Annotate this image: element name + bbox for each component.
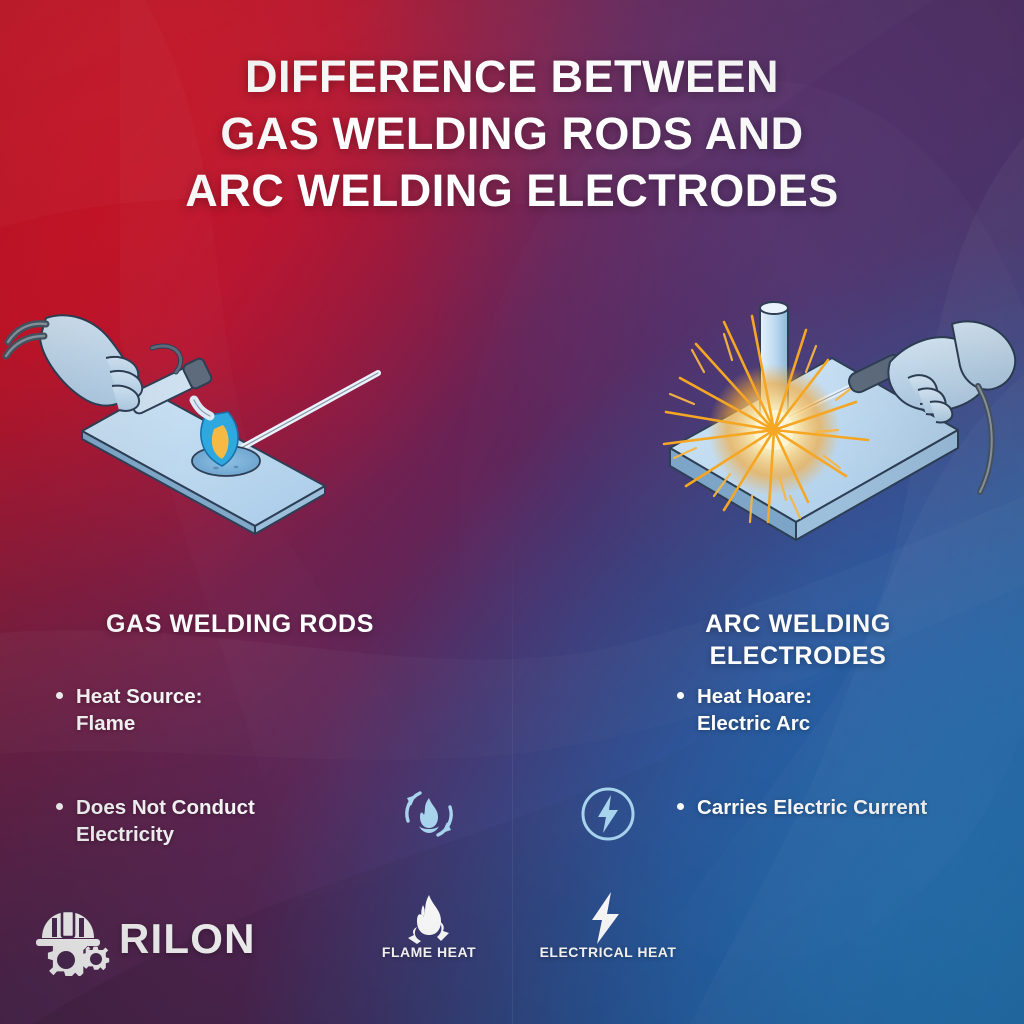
page-title: DIFFERENCE BETWEEN GAS WELDING RODS AND … [0,48,1024,219]
list-item: Heat Hoare: Electric Arc [676,683,1016,738]
lightning-bolt-circle-icon [575,781,641,847]
right-column-bullets: Heat Hoare: Electric Arc Carries Electri… [676,683,1016,821]
gas-welding-torch-illustration [0,296,420,546]
left-column-heading: GAS WELDING RODS [20,608,460,640]
arc-welding-electrode-illustration [640,290,1024,552]
hardhat-gears-logo-icon [26,902,110,976]
brand-logo: RILON [26,902,256,976]
infographic-canvas: DIFFERENCE BETWEEN GAS WELDING RODS AND … [0,0,1024,1024]
flame-arrow-icon [403,893,455,945]
flame-heat-label: FLAME HEAT [358,944,500,960]
right-column-heading: ARC WELDING ELECTRODES [600,608,996,672]
flame-cycle-icon [396,781,462,847]
lightning-bolt-icon [583,891,627,945]
list-item: Heat Source: Flame [55,683,385,738]
brand-name: RILON [119,915,256,963]
list-item: Carries Electric Current [676,794,1016,821]
left-column-bullets: Heat Source: Flame Does Not Conduct Elec… [55,683,385,849]
list-item: Does Not Conduct Electricity [55,794,385,849]
electrical-heat-label: ELECTRICAL HEAT [520,944,696,960]
column-divider [512,520,513,1024]
